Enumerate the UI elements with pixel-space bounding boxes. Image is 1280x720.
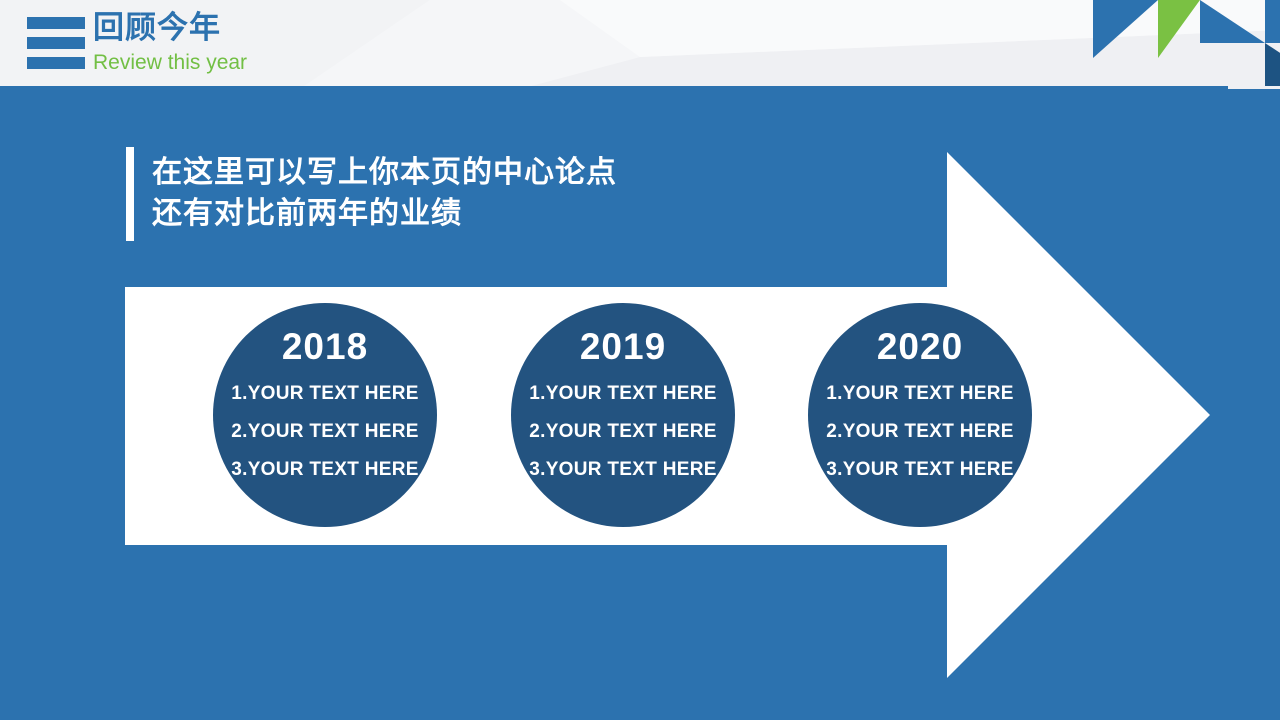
corner-decoration-triangles	[1080, 0, 1280, 89]
slide-root: 回顾今年 Review this year 在这里可以写上你本页的中心论点 还有…	[0, 0, 1280, 720]
milestone-items-2020: 1.YOUR TEXT HERE 2.YOUR TEXT HERE 3.YOUR…	[808, 375, 1032, 489]
milestone-item: 2.YOUR TEXT HERE	[808, 413, 1032, 451]
logo-bar-1	[27, 17, 85, 29]
milestone-item: 2.YOUR TEXT HERE	[213, 413, 437, 451]
milestone-year-2018: 2018	[213, 325, 437, 369]
milestone-item: 3.YOUR TEXT HERE	[213, 451, 437, 489]
milestone-item: 1.YOUR TEXT HERE	[808, 375, 1032, 413]
milestone-year-2019: 2019	[511, 325, 735, 369]
milestone-items-2018: 1.YOUR TEXT HERE 2.YOUR TEXT HERE 3.YOUR…	[213, 375, 437, 489]
page-title-line-1: 在这里可以写上你本页的中心论点	[152, 152, 852, 193]
milestone-item: 3.YOUR TEXT HERE	[808, 451, 1032, 489]
title-accent-bar	[126, 147, 134, 241]
logo-bar-3	[27, 57, 85, 69]
milestone-item: 3.YOUR TEXT HERE	[511, 451, 735, 489]
brand-subtitle-en: Review this year	[93, 50, 247, 76]
page-title-line-2: 还有对比前两年的业绩	[152, 193, 852, 234]
milestone-item: 1.YOUR TEXT HERE	[511, 375, 735, 413]
milestone-items-2019: 1.YOUR TEXT HERE 2.YOUR TEXT HERE 3.YOUR…	[511, 375, 735, 489]
brand-title-cn: 回顾今年	[93, 8, 221, 48]
milestone-item: 2.YOUR TEXT HERE	[511, 413, 735, 451]
milestone-circle-2018[interactable]: 2018 1.YOUR TEXT HERE 2.YOUR TEXT HERE 3…	[213, 303, 437, 527]
milestone-circle-2019[interactable]: 2019 1.YOUR TEXT HERE 2.YOUR TEXT HERE 3…	[511, 303, 735, 527]
milestone-circle-2020[interactable]: 2020 1.YOUR TEXT HERE 2.YOUR TEXT HERE 3…	[808, 303, 1032, 527]
page-title: 在这里可以写上你本页的中心论点 还有对比前两年的业绩	[152, 152, 852, 234]
hamburger-bars-icon	[27, 17, 85, 69]
milestone-item: 1.YOUR TEXT HERE	[213, 375, 437, 413]
milestone-year-2020: 2020	[808, 325, 1032, 369]
slide-header: 回顾今年 Review this year	[0, 0, 1280, 89]
logo-bar-2	[27, 37, 85, 49]
